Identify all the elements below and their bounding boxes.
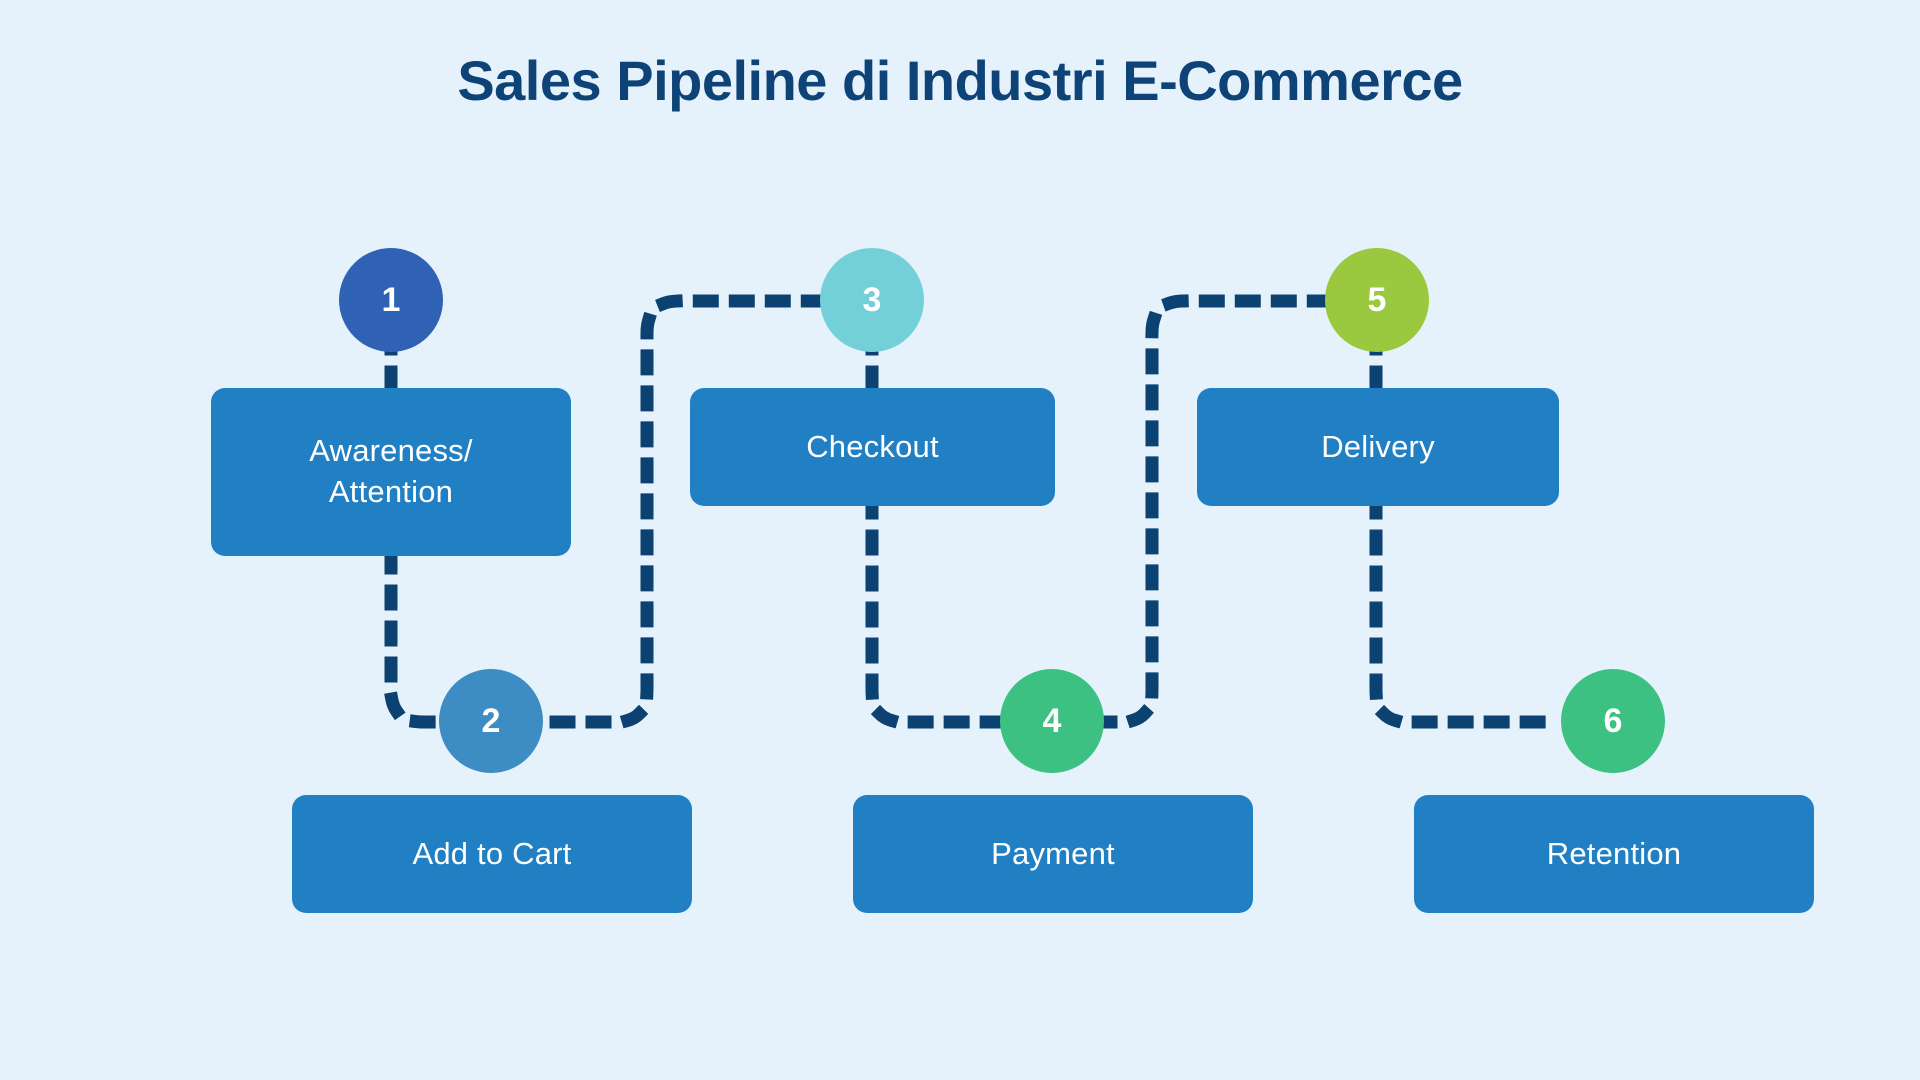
stage-5-box[interactable]: Delivery: [1197, 388, 1559, 506]
connector-4-to-5: [1062, 301, 1335, 722]
stage-1-number: 1: [382, 281, 401, 320]
stage-1-number-circle[interactable]: 1: [339, 248, 443, 352]
stage-5-number: 5: [1368, 281, 1387, 320]
connector-box3-to-4: [872, 500, 1000, 722]
stage-4-box[interactable]: Payment: [853, 795, 1253, 913]
stage-6-label: Retention: [1547, 834, 1682, 875]
diagram-canvas: Sales Pipeline di Industri E-Commerce 1 …: [0, 0, 1920, 1080]
stage-6-number: 6: [1604, 702, 1623, 741]
stage-1-box[interactable]: Awareness/ Attention: [211, 388, 571, 556]
stage-1-label-line2: Attention: [329, 472, 453, 513]
stage-1-label-line1: Awareness/: [309, 431, 472, 472]
stage-5-label: Delivery: [1321, 427, 1435, 468]
stage-2-number: 2: [482, 702, 501, 741]
stage-5-number-circle[interactable]: 5: [1325, 248, 1429, 352]
stage-4-number-circle[interactable]: 4: [1000, 669, 1104, 773]
stage-6-number-circle[interactable]: 6: [1561, 669, 1665, 773]
stage-3-label: Checkout: [806, 427, 939, 468]
stage-2-label: Add to Cart: [412, 834, 571, 875]
stage-3-number-circle[interactable]: 3: [820, 248, 924, 352]
stage-2-number-circle[interactable]: 2: [439, 669, 543, 773]
stage-3-box[interactable]: Checkout: [690, 388, 1055, 506]
stage-4-number: 4: [1043, 702, 1062, 741]
stage-2-box[interactable]: Add to Cart: [292, 795, 692, 913]
connector-box5-to-6: [1376, 500, 1560, 722]
stage-6-box[interactable]: Retention: [1414, 795, 1814, 913]
stage-3-number: 3: [863, 281, 882, 320]
stage-4-label: Payment: [991, 834, 1115, 875]
